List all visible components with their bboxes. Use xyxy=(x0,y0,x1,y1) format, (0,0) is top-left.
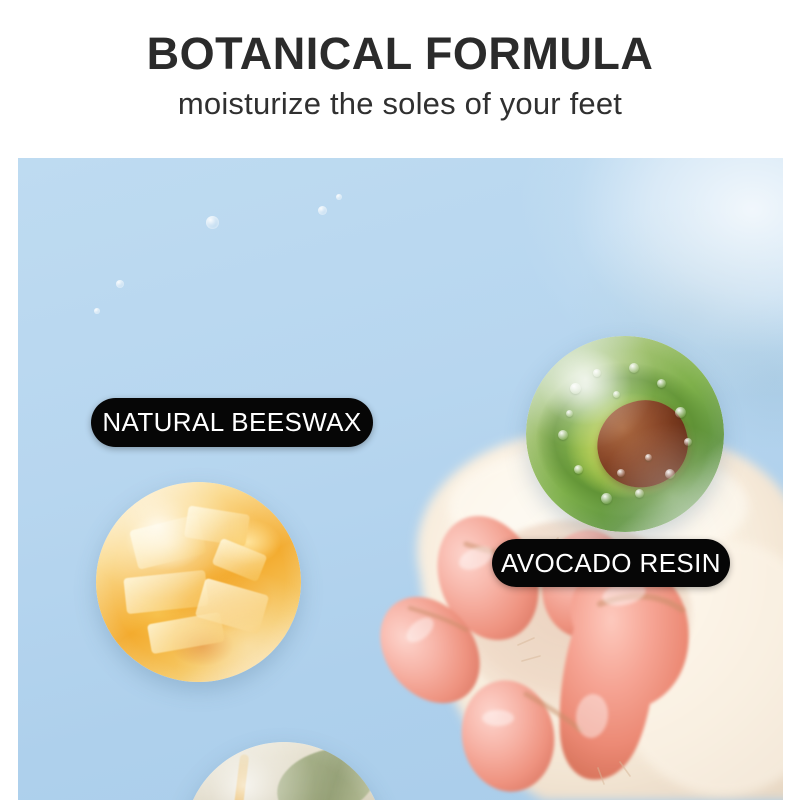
avocado-pit xyxy=(587,390,698,498)
avocado-sphere xyxy=(526,336,724,532)
water-bubble-icon xyxy=(318,206,327,215)
jojoba-sphere xyxy=(184,742,384,800)
water-bubble-icon xyxy=(206,216,219,229)
header: BOTANICAL FORMULA moisturize the soles o… xyxy=(0,0,800,158)
ingredient-label-avocado[interactable]: AVOCADO RESIN xyxy=(492,539,730,587)
ingredient-label-beeswax[interactable]: NATURAL BEESWAX xyxy=(91,398,373,447)
oil-drizzle xyxy=(232,754,250,800)
beeswax-sphere xyxy=(96,482,301,682)
page-subtitle: moisturize the soles of your feet xyxy=(0,86,800,122)
water-bubble-icon xyxy=(94,308,100,314)
product-banner: BOTANICAL FORMULA moisturize the soles o… xyxy=(0,0,800,800)
product-photo: NATURAL BEESWAX AVOCADO RESIN JOJOBA SEE… xyxy=(18,158,783,800)
page-title: BOTANICAL FORMULA xyxy=(0,30,800,77)
water-bubble-icon xyxy=(336,194,342,200)
water-bubble-icon xyxy=(116,280,124,288)
